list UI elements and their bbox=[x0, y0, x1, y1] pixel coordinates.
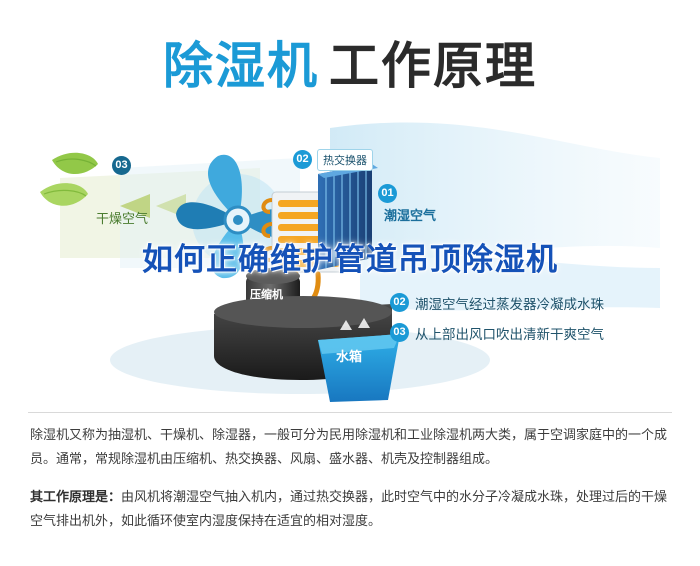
step-text: 从上部出风口吹出清新干爽空气 bbox=[415, 323, 604, 343]
water-tank bbox=[318, 334, 400, 402]
label-dry-air: 干燥空气 bbox=[96, 208, 148, 227]
page-root: 除湿机工作原理 bbox=[0, 0, 700, 566]
paragraph-2-lead: 其工作原理是： bbox=[30, 490, 121, 505]
step-item: 03 从上部出风口吹出清新干爽空气 bbox=[390, 322, 690, 348]
tag-heat-exchanger: 热交换器 bbox=[317, 149, 373, 171]
label-humid-air: 潮湿空气 bbox=[384, 205, 436, 224]
badge-02: 02 bbox=[293, 150, 312, 169]
article-body: 除湿机又称为抽湿机、干燥机、除湿器，一般可分为民用除湿机和工业除湿机两大类，属于… bbox=[30, 424, 670, 534]
heat-exchanger bbox=[318, 164, 378, 270]
paragraph-2: 其工作原理是：由风机将潮湿空气抽入机内，通过热交换器，此时空气中的水分子冷凝成水… bbox=[30, 486, 670, 534]
leaf-icon bbox=[52, 153, 98, 174]
step-badge: 03 bbox=[390, 323, 409, 342]
label-water-tank: 水箱 bbox=[336, 346, 362, 365]
section-divider bbox=[28, 412, 672, 413]
title-part-primary: 除湿机 bbox=[163, 37, 319, 95]
step-badge: 02 bbox=[390, 293, 409, 312]
paragraph-2-text: 由风机将潮湿空气抽入机内，通过热交换器，此时空气中的水分子冷凝成水珠，处理过后的… bbox=[30, 490, 667, 529]
badge-01: 01 bbox=[378, 184, 397, 203]
steps-list: 02 潮湿空气经过蒸发器冷凝成水珠 03 从上部出风口吹出清新干爽空气 bbox=[390, 292, 690, 352]
step-text: 潮湿空气经过蒸发器冷凝成水珠 bbox=[415, 293, 604, 313]
label-compressor: 压缩机 bbox=[250, 286, 283, 302]
title-part-secondary: 工作原理 bbox=[329, 37, 537, 95]
dehumidifier-diagram: 03 02 01 热交换器 干燥空气 潮湿空气 压缩机 水箱 bbox=[0, 108, 700, 408]
page-title: 除湿机工作原理 bbox=[0, 26, 700, 96]
step-item: 02 潮湿空气经过蒸发器冷凝成水珠 bbox=[390, 292, 690, 318]
badge-03-left: 03 bbox=[112, 156, 131, 175]
paragraph-1: 除湿机又称为抽湿机、干燥机、除湿器，一般可分为民用除湿机和工业除湿机两大类，属于… bbox=[30, 424, 670, 472]
